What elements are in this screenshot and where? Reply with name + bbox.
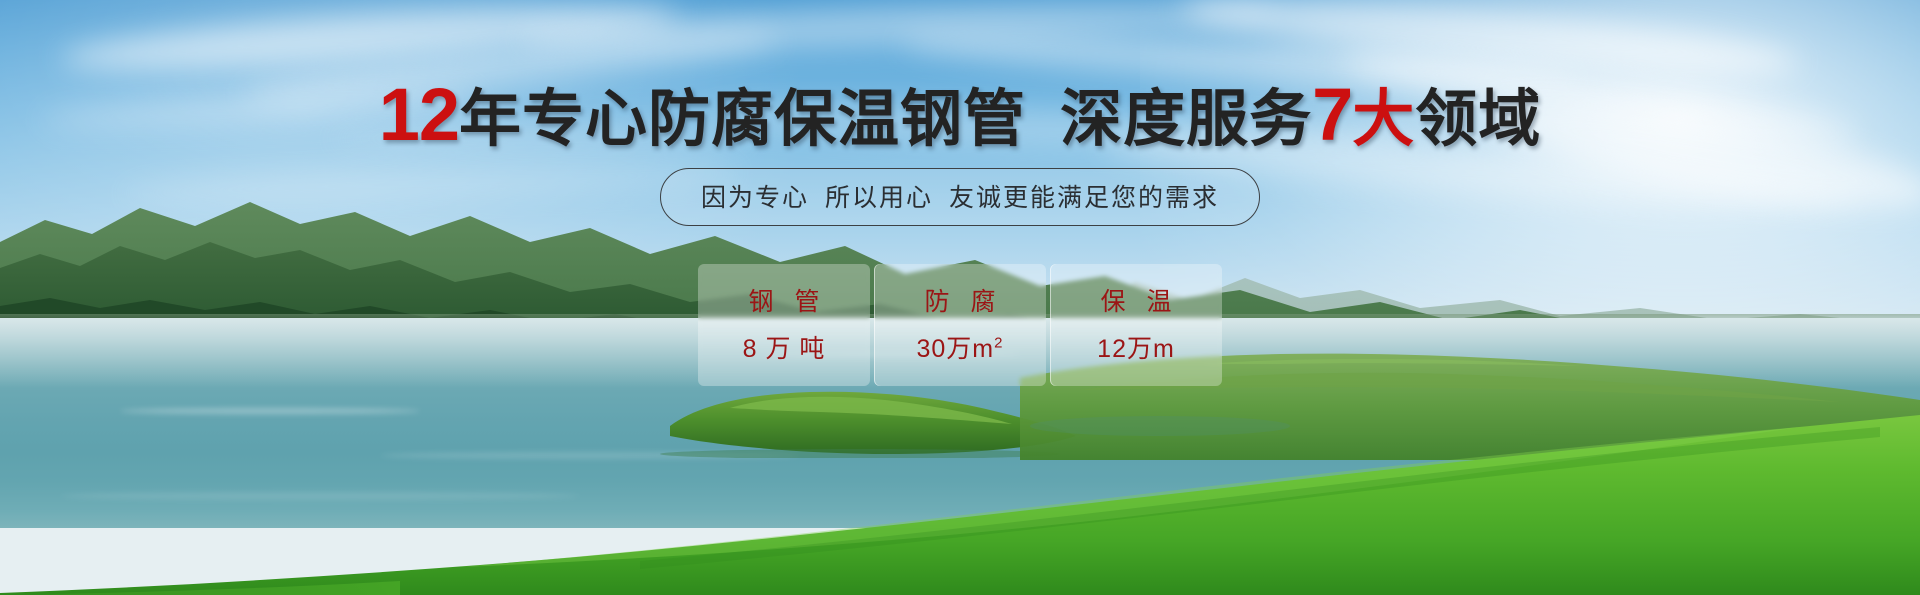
headline-fields-unit: 大 — [1352, 85, 1415, 154]
stat-card-title: 防 腐 — [874, 290, 1046, 315]
foreground-grass — [0, 405, 1920, 595]
stat-card-title: 保 温 — [1050, 290, 1222, 315]
headline-fields-tail: 领域 — [1415, 85, 1541, 154]
subtitle-part-2: 所以用心 — [825, 184, 933, 212]
stat-card-steel-pipe: 钢 管 8 万 吨 — [698, 264, 870, 386]
headline-main-text: 专心防腐保温钢管 — [522, 85, 1026, 154]
stat-value-superscript: 2 — [994, 335, 1003, 352]
stat-card-insulation: 保 温 12万m — [1050, 264, 1222, 386]
subtitle-pill-wrapper: 因为专心所以用心友诚更能满足您的需求 — [0, 168, 1920, 226]
stat-card-title: 钢 管 — [698, 290, 870, 315]
stat-value-main: 8 万 吨 — [743, 335, 826, 363]
stat-card-value: 12万m — [1050, 337, 1222, 362]
subtitle-part-1: 因为专心 — [701, 184, 809, 212]
stat-card-value: 8 万 吨 — [698, 337, 870, 362]
stat-value-main: 30万m — [917, 335, 995, 363]
subtitle-part-3: 友诚更能满足您的需求 — [949, 184, 1219, 212]
stat-card-group: 钢 管 8 万 吨 防 腐 30万m2 保 温 12万m — [0, 264, 1920, 386]
headline-fields-number: 7 — [1312, 73, 1352, 156]
headline-service-text: 深度服务 — [1060, 85, 1312, 154]
stat-card-anticorrosion: 防 腐 30万m2 — [874, 264, 1046, 386]
headline-years-unit: 年 — [459, 85, 522, 154]
stat-value-main: 12万m — [1097, 335, 1175, 363]
subtitle-pill: 因为专心所以用心友诚更能满足您的需求 — [660, 168, 1260, 226]
headline-years-number: 12 — [379, 73, 459, 156]
headline: 12年专心防腐保温钢管深度服务7大领域 — [0, 78, 1920, 152]
hero-banner: 12年专心防腐保温钢管深度服务7大领域 因为专心所以用心友诚更能满足您的需求 钢… — [0, 0, 1920, 595]
stat-card-value: 30万m2 — [874, 337, 1046, 362]
